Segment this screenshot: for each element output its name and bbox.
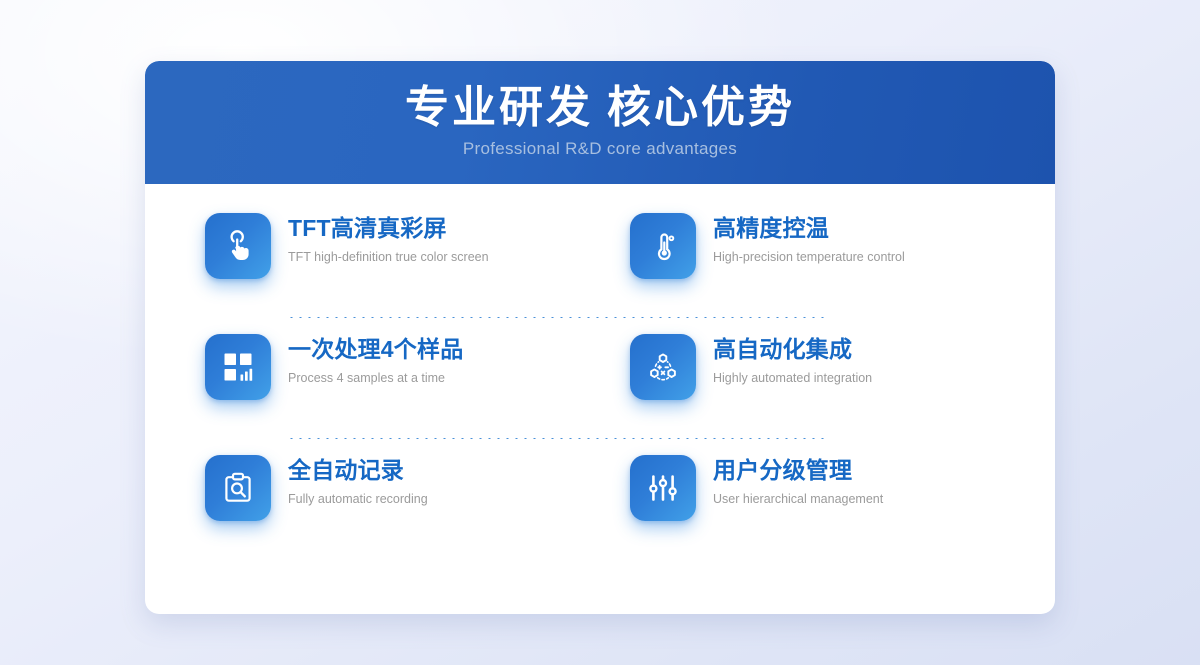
automation-network-icon	[645, 349, 681, 385]
feature-title: TFT高清真彩屏	[288, 214, 489, 243]
card-header: 专业研发 核心优势 Professional R&D core advantag…	[145, 61, 1055, 184]
icon-tile	[205, 213, 271, 279]
icon-tile	[630, 213, 696, 279]
feature-title: 一次处理4个样品	[288, 335, 463, 364]
icon-tile	[630, 334, 696, 400]
page-subtitle: Professional R&D core advantages	[145, 132, 1055, 159]
feature-row: 一次处理4个样品 Process 4 samples at a time	[205, 331, 995, 425]
feature-text: 全自动记录 Fully automatic recording	[271, 452, 428, 507]
features-grid: TFT高清真彩屏 TFT high-definition true color …	[145, 184, 1055, 546]
feature-text: 一次处理4个样品 Process 4 samples at a time	[271, 331, 463, 386]
feature-subtitle: Process 4 samples at a time	[288, 364, 463, 386]
feature-title: 高精度控温	[713, 214, 905, 243]
feature-title: 高自动化集成	[713, 335, 872, 364]
feature-item-user-management[interactable]: 用户分级管理 User hierarchical management	[600, 452, 995, 546]
feature-row: TFT高清真彩屏 TFT high-definition true color …	[205, 210, 995, 304]
feature-text: 高自动化集成 Highly automated integration	[696, 331, 872, 386]
grid-dashboard-icon	[221, 350, 255, 384]
icon-tile	[205, 455, 271, 521]
feature-text: TFT高清真彩屏 TFT high-definition true color …	[271, 210, 489, 265]
feature-item-tft-screen[interactable]: TFT高清真彩屏 TFT high-definition true color …	[205, 210, 600, 304]
feature-subtitle: Highly automated integration	[713, 364, 872, 386]
touch-gesture-icon	[220, 228, 256, 264]
feature-subtitle: TFT high-definition true color screen	[288, 243, 489, 265]
feature-item-temperature-control[interactable]: 高精度控温 High-precision temperature control	[600, 210, 995, 304]
feature-subtitle: Fully automatic recording	[288, 485, 428, 507]
page-root: 专业研发 核心优势 Professional R&D core advantag…	[0, 0, 1200, 665]
feature-item-auto-recording[interactable]: 全自动记录 Fully automatic recording	[205, 452, 600, 546]
advantages-card: 专业研发 核心优势 Professional R&D core advantag…	[145, 61, 1055, 614]
feature-item-automation[interactable]: 高自动化集成 Highly automated integration	[600, 331, 995, 425]
sliders-icon	[646, 471, 680, 505]
feature-title: 用户分级管理	[713, 456, 883, 485]
feature-title: 全自动记录	[288, 456, 428, 485]
thermometer-icon	[645, 228, 681, 264]
feature-text: 用户分级管理 User hierarchical management	[696, 452, 883, 507]
feature-row: 全自动记录 Fully automatic recording	[205, 452, 995, 546]
feature-item-four-samples[interactable]: 一次处理4个样品 Process 4 samples at a time	[205, 331, 600, 425]
feature-subtitle: High-precision temperature control	[713, 243, 905, 265]
icon-tile	[205, 334, 271, 400]
icon-tile	[630, 455, 696, 521]
divider	[287, 317, 827, 318]
divider	[287, 438, 827, 439]
feature-text: 高精度控温 High-precision temperature control	[696, 210, 905, 265]
feature-subtitle: User hierarchical management	[713, 485, 883, 507]
clipboard-search-icon	[221, 471, 255, 505]
page-title: 专业研发 核心优势	[145, 61, 1055, 132]
